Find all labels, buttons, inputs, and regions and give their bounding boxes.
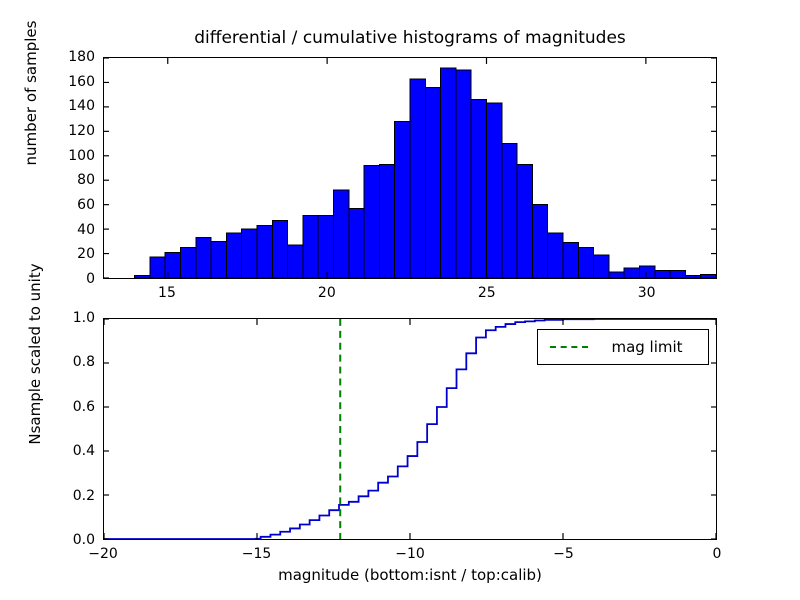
differential-histogram-axes (103, 57, 717, 279)
histogram-bar (563, 243, 578, 278)
histogram-bar (288, 245, 303, 278)
top-axis-ylabel: number of samples (22, 2, 40, 184)
histogram-bar (670, 271, 685, 278)
histogram-bar (441, 68, 456, 278)
top-ytick-label: 0 (41, 271, 95, 287)
histogram-bar (257, 225, 272, 278)
differential-histogram-canvas (104, 58, 716, 278)
histogram-bar (594, 255, 609, 278)
histogram-bar (150, 257, 165, 278)
top-xtick-label: 25 (478, 285, 496, 301)
histogram-bar (655, 271, 670, 278)
histogram-bar (471, 100, 486, 278)
top-ytick-label: 160 (41, 74, 95, 90)
histogram-bar (395, 122, 410, 278)
histogram-bar (196, 238, 211, 278)
mag-limit-line-icon (548, 341, 590, 353)
bottom-xtick-label: −10 (395, 546, 425, 562)
bottom-xtick-label: −20 (88, 546, 118, 562)
histogram-bar (226, 233, 241, 278)
histogram-bar (303, 216, 318, 278)
histogram-bar (624, 268, 639, 278)
page-title: differential / cumulative histograms of … (103, 28, 717, 48)
histogram-bar (609, 272, 624, 278)
histogram-bar (685, 276, 700, 278)
top-ytick-label: 100 (41, 148, 95, 164)
bottom-ytick-label: 0.2 (41, 488, 95, 504)
histogram-bar (135, 276, 150, 278)
top-ytick-label: 180 (41, 49, 95, 65)
histogram-bar (425, 87, 440, 278)
histogram-bar (272, 221, 287, 278)
top-ytick-label: 60 (41, 197, 95, 213)
top-xtick-label: 20 (318, 285, 336, 301)
histogram-bar (517, 164, 532, 278)
bottom-ytick-label: 0.6 (41, 399, 95, 415)
histogram-bar (548, 233, 563, 278)
histogram-bar (578, 247, 593, 278)
histogram-bar (379, 164, 394, 278)
legend: mag limit (537, 329, 709, 365)
legend-label-mag-limit: mag limit (590, 338, 698, 356)
bottom-xtick-label: −15 (242, 546, 272, 562)
histogram-bar (532, 205, 547, 278)
bottom-ytick-label: 1.0 (41, 310, 95, 326)
bottom-ytick-label: 0.4 (41, 443, 95, 459)
matplotlib-figure: differential / cumulative histograms of … (0, 0, 800, 600)
histogram-bar (640, 266, 655, 278)
bottom-ytick-label: 0.0 (41, 532, 95, 548)
histogram-bar (364, 166, 379, 278)
top-ytick-label: 120 (41, 123, 95, 139)
histogram-bar (181, 247, 196, 278)
histogram-bar (334, 190, 349, 278)
figure-xlabel: magnitude (bottom:isnt / top:calib) (103, 566, 717, 584)
histogram-bar (456, 70, 471, 278)
bottom-xtick-label: 0 (713, 546, 722, 562)
histogram-bar (410, 79, 425, 278)
histogram-bar (349, 208, 364, 278)
top-xtick-label: 15 (158, 285, 176, 301)
histogram-bar (487, 103, 502, 278)
histogram-bar (211, 241, 226, 278)
top-ytick-label: 80 (41, 172, 95, 188)
bottom-ytick-label: 0.8 (41, 354, 95, 370)
histogram-bar (502, 144, 517, 278)
bottom-xtick-label: −5 (553, 546, 574, 562)
top-ytick-label: 20 (41, 246, 95, 262)
histogram-bar (318, 216, 333, 278)
top-xtick-label: 30 (638, 285, 656, 301)
top-ytick-label: 40 (41, 222, 95, 238)
histogram-bar (242, 229, 257, 278)
top-ytick-label: 140 (41, 98, 95, 114)
